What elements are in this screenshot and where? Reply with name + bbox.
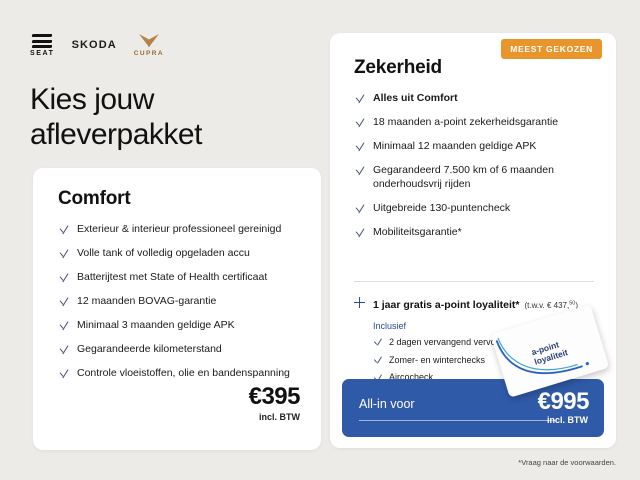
zekerheid-feature-list: Alles uit Comfort 18 maanden a-point zek… (354, 91, 604, 249)
feature-text: Alles uit Comfort (373, 91, 458, 105)
list-item: 18 maanden a-point zekerheidsgarantie (354, 115, 604, 129)
seat-mark-icon (32, 33, 52, 49)
package-card-zekerheid[interactable]: MEEST GEKOZEN Zekerheid Alles uit Comfor… (330, 33, 616, 448)
check-icon (373, 338, 382, 347)
list-item: Alles uit Comfort (354, 91, 604, 105)
check-icon (58, 368, 69, 379)
feature-text: Batterijtest met State of Health certifi… (77, 270, 267, 284)
seat-logo-label: SEAT (30, 50, 55, 57)
check-icon (58, 344, 69, 355)
check-icon (354, 227, 365, 238)
cupra-logo: CUPRA (134, 33, 164, 57)
list-item: Batterijtest met State of Health certifi… (58, 270, 308, 284)
check-icon (58, 248, 69, 259)
list-item: Minimaal 12 maanden geldige APK (354, 139, 604, 153)
skoda-logo-label: SKODA (72, 39, 117, 51)
allin-price-bar: All-in voor €995 incl. BTW (342, 379, 604, 437)
feature-text: Uitgebreide 130-puntencheck (373, 201, 510, 215)
most-chosen-badge: MEEST GEKOZEN (501, 39, 602, 59)
comfort-feature-list: Exterieur & interieur professioneel gere… (58, 222, 308, 390)
package-card-comfort[interactable]: Comfort Exterieur & interieur profession… (33, 168, 321, 450)
feature-text: Volle tank of volledig opgeladen accu (77, 246, 250, 260)
allin-price-note: incl. BTW (547, 415, 588, 425)
brand-logo-bar: SEAT SKODA CUPRA (30, 32, 164, 58)
list-item: Uitgebreide 130-puntencheck (354, 201, 604, 215)
footnote-text: *Vraag naar de voorwaarden. (518, 458, 616, 467)
zekerheid-card-title: Zekerheid (354, 57, 442, 79)
feature-text: Gegarandeerd 7.500 km of 6 maanden onder… (373, 163, 604, 191)
check-icon (58, 272, 69, 283)
section-divider (354, 281, 594, 282)
list-item: Gegarandeerd 7.500 km of 6 maanden onder… (354, 163, 604, 191)
check-icon (58, 224, 69, 235)
feature-text: Minimaal 12 maanden geldige APK (373, 139, 536, 153)
check-icon (58, 296, 69, 307)
comfort-price-value: €395 (249, 383, 300, 411)
comfort-card-title: Comfort (58, 188, 130, 210)
loyalty-value: (t.w.v. € 437,50) (524, 301, 578, 310)
allin-price-value: €995 (538, 388, 589, 416)
check-icon (354, 117, 365, 128)
allin-label: All-in voor (359, 397, 415, 411)
check-icon (58, 320, 69, 331)
feature-text: Mobiliteitsgarantie* (373, 225, 462, 239)
list-item: Mobiliteitsgarantie* (354, 225, 604, 239)
feature-text: Minimaal 3 maanden geldige APK (77, 318, 235, 332)
list-item: Controle vloeistoffen, olie en bandenspa… (58, 366, 308, 380)
check-icon (354, 203, 365, 214)
list-item: Volle tank of volledig opgeladen accu (58, 246, 308, 260)
seat-logo: SEAT (30, 33, 55, 57)
feature-text: Exterieur & interieur professioneel gere… (77, 222, 281, 236)
included-text: 2 dagen vervangend vervoer (389, 337, 504, 349)
list-item: Exterieur & interieur professioneel gere… (58, 222, 308, 236)
list-item: Minimaal 3 maanden geldige APK (58, 318, 308, 332)
plus-icon (354, 297, 365, 308)
check-icon (373, 356, 382, 365)
feature-text: 12 maanden BOVAG-garantie (77, 294, 216, 308)
feature-text: Gegarandeerde kilometerstand (77, 342, 222, 356)
included-text: Zomer- en winterchecks (389, 355, 485, 367)
check-icon (354, 141, 365, 152)
pricebar-rule (359, 420, 556, 421)
page-title: Kies jouw afleverpakket (30, 82, 320, 152)
cupra-mark-icon (138, 33, 160, 48)
list-item: 12 maanden BOVAG-garantie (58, 294, 308, 308)
comfort-price-block: €395 incl. BTW (249, 383, 300, 422)
feature-text: 18 maanden a-point zekerheidsgarantie (373, 115, 558, 129)
promo-page: SEAT SKODA CUPRA Kies jouw afleverpakket… (0, 0, 640, 480)
cupra-logo-label: CUPRA (134, 50, 164, 57)
comfort-price-note: incl. BTW (249, 412, 300, 422)
check-icon (354, 165, 365, 176)
loyalty-title: 1 jaar gratis a-point loyaliteit* (373, 299, 519, 311)
list-item: Gegarandeerde kilometerstand (58, 342, 308, 356)
feature-text: Controle vloeistoffen, olie en bandenspa… (77, 366, 290, 380)
check-icon (354, 93, 365, 104)
loyalty-value-prefix: (t.w.v. € 437, (524, 301, 569, 310)
